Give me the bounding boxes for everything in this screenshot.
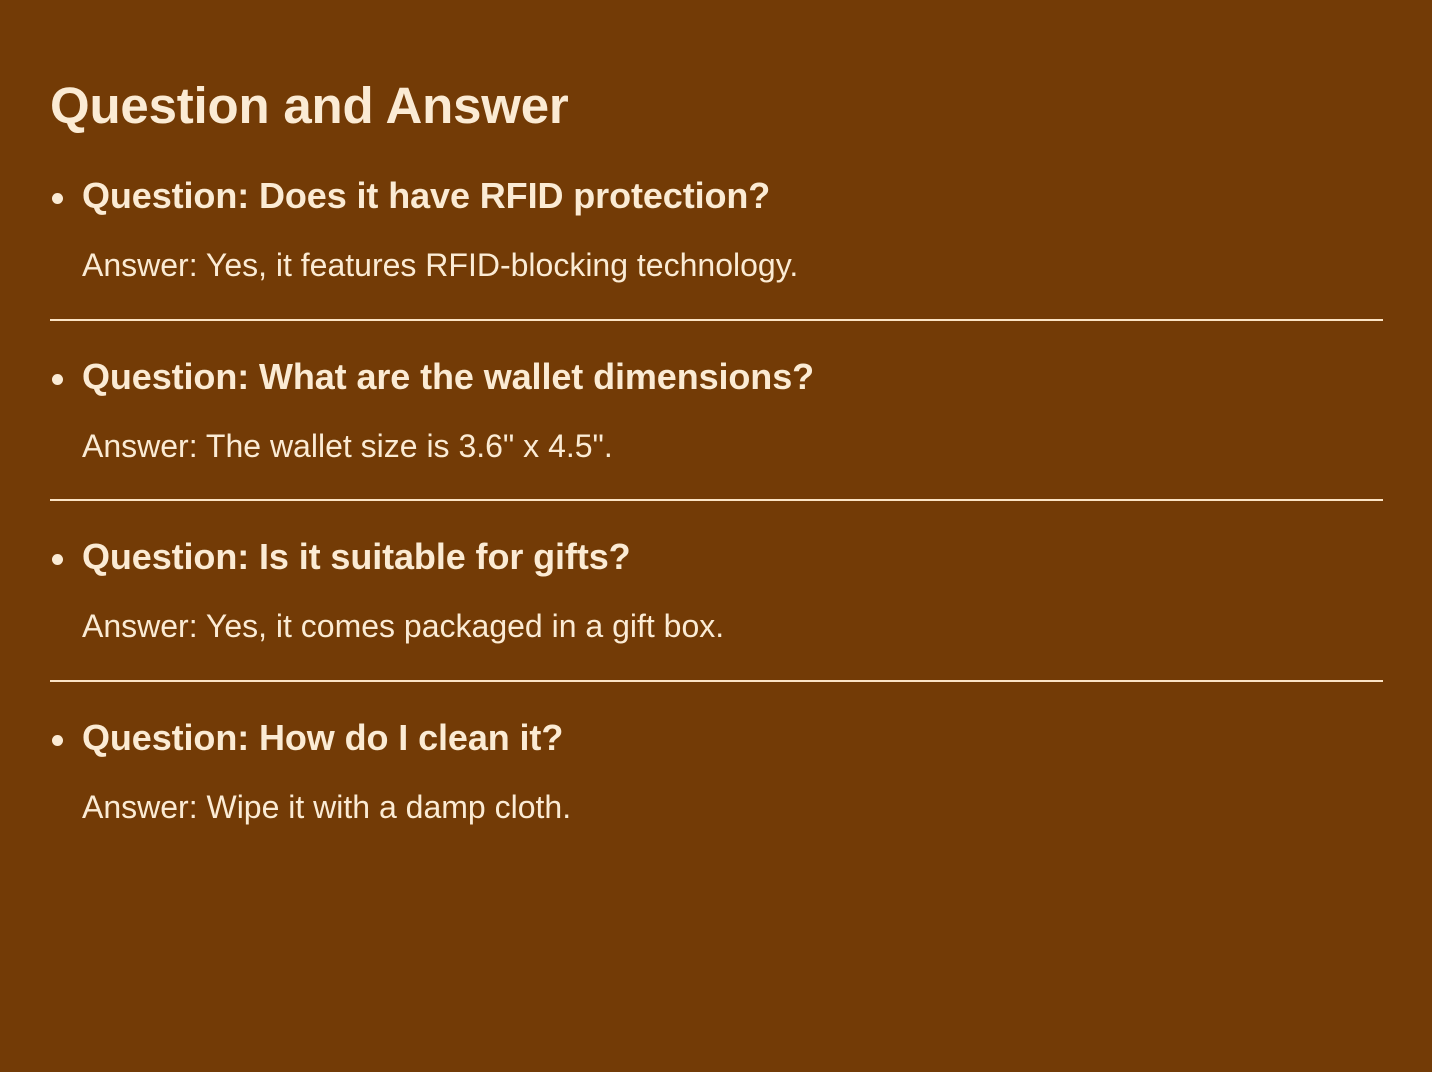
qa-answer-text: Answer: Wipe it with a damp cloth.: [0, 787, 1432, 829]
qa-item: Question: How do I clean it? Answer: Wip…: [0, 682, 1432, 829]
qa-answer-text: Answer: Yes, it comes packaged in a gift…: [0, 606, 1432, 648]
qa-block-spacer: [0, 682, 1432, 714]
qa-question-text: Question: Does it have RFID protection?: [82, 172, 1432, 220]
qa-block-spacer: [0, 501, 1432, 533]
bullet-dot-icon: [52, 554, 63, 565]
qa-question-row: Question: What are the wallet dimensions…: [0, 353, 1432, 401]
qa-answer-text: Answer: The wallet size is 3.6" x 4.5".: [0, 426, 1432, 468]
qa-answer-text: Answer: Yes, it features RFID-blocking t…: [0, 245, 1432, 287]
qa-item: Question: Is it suitable for gifts? Answ…: [0, 501, 1432, 682]
qa-question-text: Question: How do I clean it?: [82, 714, 1432, 762]
qa-question-text: Question: Is it suitable for gifts?: [82, 533, 1432, 581]
qa-list: Question: Does it have RFID protection? …: [0, 172, 1432, 828]
qa-block-spacer: [0, 321, 1432, 353]
qa-item: Question: Does it have RFID protection? …: [0, 172, 1432, 321]
bullet-dot-icon: [52, 374, 63, 385]
page-title: Question and Answer: [50, 78, 569, 133]
qa-question-text: Question: What are the wallet dimensions…: [82, 353, 1432, 401]
qa-question-row: Question: Does it have RFID protection?: [0, 172, 1432, 220]
bullet-dot-icon: [52, 193, 63, 204]
qa-question-row: Question: How do I clean it?: [0, 714, 1432, 762]
qa-question-row: Question: Is it suitable for gifts?: [0, 533, 1432, 581]
question-and-answer-panel: Question and Answer Question: Does it ha…: [0, 0, 1432, 1072]
bullet-dot-icon: [52, 735, 63, 746]
qa-item: Question: What are the wallet dimensions…: [0, 321, 1432, 502]
